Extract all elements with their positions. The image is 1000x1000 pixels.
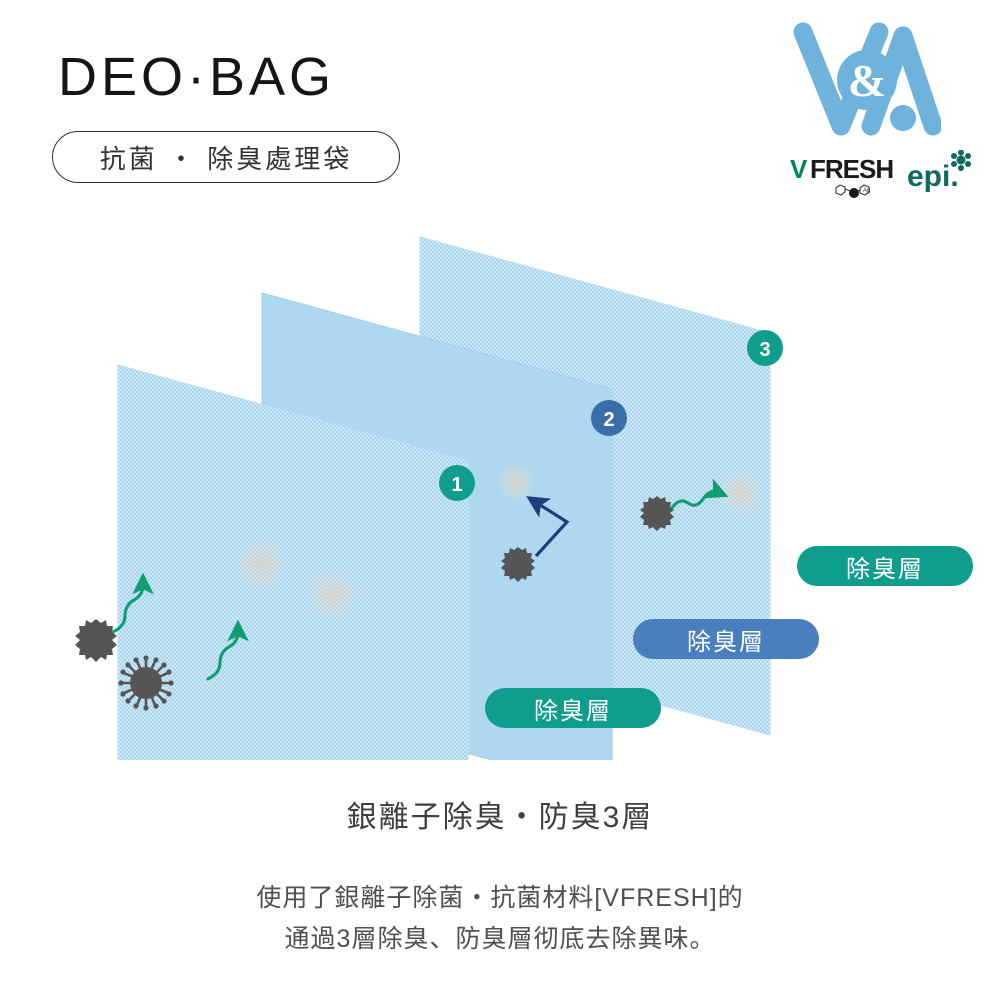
badge-2: 2 <box>591 400 627 436</box>
va-ampersand: & <box>848 55 886 106</box>
silver-symbol: Ag <box>863 188 870 194</box>
layer-3-label-text: 除臭層 <box>846 549 924 584</box>
odor-blob <box>497 463 535 501</box>
badge-1: 1 <box>439 465 475 501</box>
epi-wordmark: epi. <box>907 160 959 193</box>
product-infographic: DEO·BAG 抗菌 ・ 除臭處理袋 & V FRESH <box>0 0 1000 1000</box>
germ-starburst <box>75 619 117 662</box>
footer-body-line-2: 通過3層除臭、防臭層彻底去除異味。 <box>0 919 1000 960</box>
va-logo: & <box>793 22 941 142</box>
badge-3: 3 <box>747 330 783 366</box>
odor-blob <box>719 472 761 514</box>
layer-2-label-text: 除臭層 <box>687 622 765 657</box>
subtitle-badge: 抗菌 ・ 除臭處理袋 <box>52 131 400 183</box>
odor-blob <box>309 572 355 618</box>
subtitle-text: 抗菌 ・ 除臭處理袋 <box>100 139 352 176</box>
layer-2-label-pill: 除臭層 <box>633 619 819 659</box>
vfresh-v-letter: V <box>790 154 808 184</box>
footer-body: 使用了銀離子除菌・抗菌材料[VFRESH]的 通過3層除臭、防臭層彻底去除異味。 <box>0 878 1000 959</box>
badge-3-label: 3 <box>759 339 770 361</box>
epi-logo: epi. <box>905 150 977 200</box>
vfresh-logo: V FRESH Ag <box>790 152 900 200</box>
layer-3-label-pill: 除臭層 <box>797 546 973 586</box>
vfresh-wordmark: FRESH <box>810 154 893 184</box>
three-layer-diagram: 3 2 1 <box>0 215 1000 760</box>
germ-virus <box>118 655 173 710</box>
footer-body-line-1: 使用了銀離子除菌・抗菌材料[VFRESH]的 <box>0 878 1000 919</box>
page-title: DEO·BAG <box>58 46 335 108</box>
layer-1-label-text: 除臭層 <box>534 691 612 726</box>
footer-heading: 銀離子除臭・防臭3層 <box>0 792 1000 836</box>
badge-2-label: 2 <box>603 409 614 431</box>
footer-section: 銀離子除臭・防臭3層 使用了銀離子除菌・抗菌材料[VFRESH]的 通過3層除臭… <box>0 792 1000 959</box>
layer-1-label-pill: 除臭層 <box>485 688 661 728</box>
badge-1-label: 1 <box>451 474 462 496</box>
odor-blob <box>237 540 285 588</box>
